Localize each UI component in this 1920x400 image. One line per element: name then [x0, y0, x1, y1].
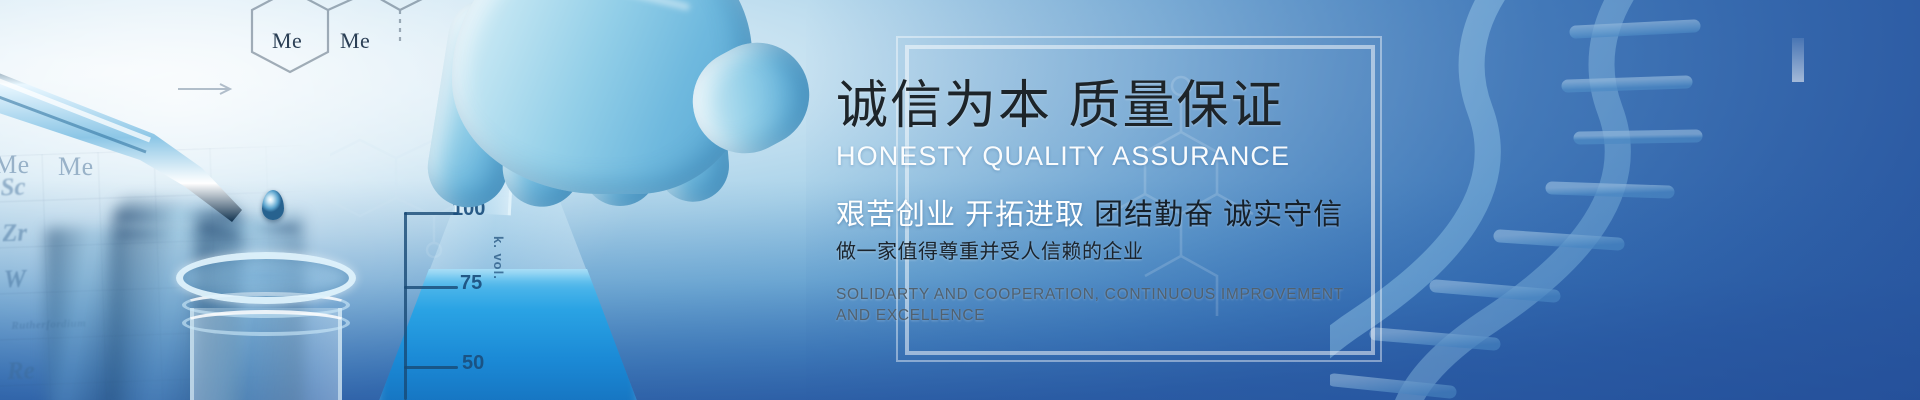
footer-english-line-1: SOLIDARTY AND COOPERATION, CONTINUOUS IM…	[836, 284, 1356, 305]
banner-footer-english: SOLIDARTY AND COOPERATION, CONTINUOUS IM…	[836, 284, 1356, 326]
blurred-jar-background	[46, 228, 120, 400]
slogan-part-1: 艰苦创业 开拓进取	[836, 199, 1085, 231]
liquid-droplet	[262, 190, 284, 220]
banner-tagline: 做一家值得尊重并受人信赖的企业	[836, 238, 1556, 266]
banner-slogan: 艰苦创业 开拓进取 团结勤奋 诚实守信	[836, 196, 1556, 234]
banner-text-block: 诚信为本 质量保证 HONESTY QUALITY ASSURANCE 艰苦创业…	[836, 74, 1556, 326]
banner-subtitle-english: HONESTY QUALITY ASSURANCE	[836, 140, 1556, 172]
glass-jar-thread	[182, 310, 350, 336]
gloved-hand	[392, 0, 822, 286]
flask-graduation-tick	[404, 286, 458, 289]
banner-headline: 诚信为本 质量保证	[836, 74, 1556, 138]
flask-graduation-tick	[404, 366, 458, 369]
hero-banner: Sc Zr WRutherfordium ReDubnium BhSeaborg…	[0, 0, 1920, 400]
footer-english-line-2: AND EXCELLENCE	[836, 305, 1356, 326]
glass-jar-foreground	[176, 252, 356, 400]
decorative-frame-notch	[1792, 38, 1804, 82]
glass-jar-mouth	[176, 252, 356, 304]
slogan-part-2: 团结勤奋 诚实守信	[1094, 199, 1343, 231]
flask-mark-50: 50	[462, 352, 484, 375]
